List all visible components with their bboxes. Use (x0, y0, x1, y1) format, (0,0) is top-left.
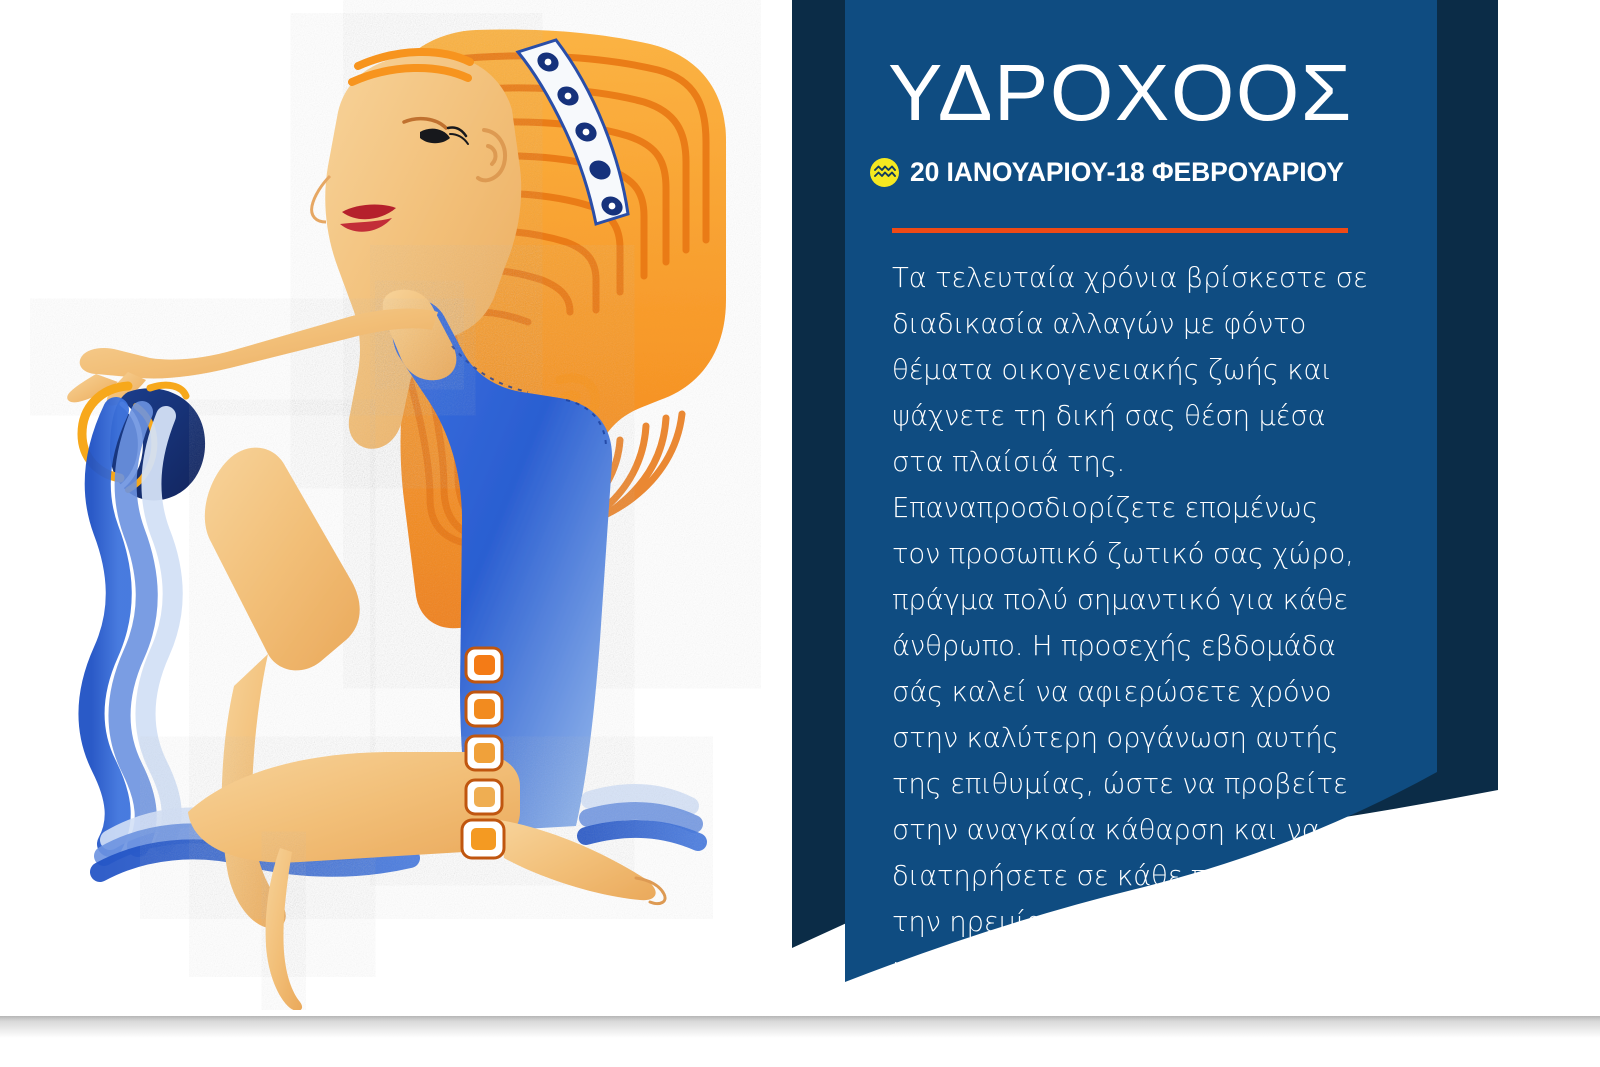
page-title: ΥΔΡΟΧΟΟΣ (888, 53, 1353, 133)
aquarius-woman-watercolor-illustration (0, 0, 800, 1010)
accent-divider (892, 228, 1348, 233)
forecast-body-text: Τα τελευταία χρόνια βρίσκεστε σε διαδικα… (892, 255, 1374, 991)
dress-buttons (462, 648, 504, 858)
aquarius-waves-icon (870, 158, 899, 187)
date-range-row: 20 ΙΑΝΟΥΑΡΙΟΥ-18 ΦΕΒΡΟΥΑΡΙΟΥ (870, 157, 1344, 188)
horoscope-card-page: ΥΔΡΟΧΟΟΣ 20 ΙΑΝΟΥΑΡΙΟΥ-18 ΦΕΒΡΟΥΑΡΙΟΥ Τα… (0, 0, 1600, 1067)
water-stream (91, 410, 172, 846)
date-range-label: 20 ΙΑΝΟΥΑΡΙΟΥ-18 ΦΕΒΡΟΥΑΡΙΟΥ (910, 157, 1344, 188)
page-bottom-shadow (0, 1022, 1600, 1038)
